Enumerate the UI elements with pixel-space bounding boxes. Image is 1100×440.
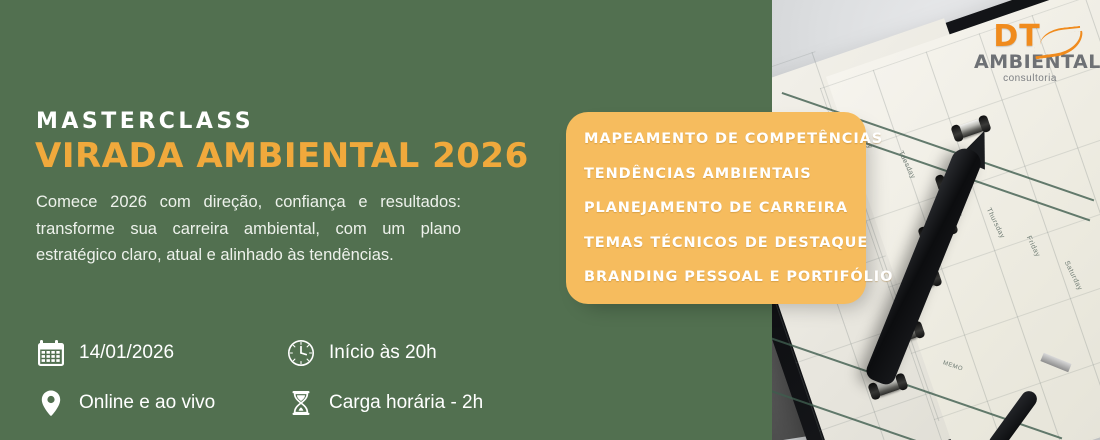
topics-card: MAPEAMENTO DE COMPETÊNCIAS TENDÊNCIAS AM… <box>566 112 866 304</box>
location-pin-icon <box>34 386 68 420</box>
info-label-time: Início às 20h <box>329 342 437 364</box>
info-item-date: 14/01/2026 <box>34 336 284 370</box>
info-row: 14/01/2026 <box>34 328 554 378</box>
clock-icon <box>284 336 318 370</box>
calendar-icon <box>34 336 68 370</box>
info-label-date: 14/01/2026 <box>79 342 174 364</box>
topic-item: TENDÊNCIAS AMBIENTAIS <box>584 167 866 182</box>
info-item-duration: Carga horária - 2h <box>284 386 544 420</box>
brand-logo: DT AMBIENTAL consultoria <box>974 22 1086 84</box>
info-item-location: Online e ao vivo <box>34 386 284 420</box>
topic-item: MAPEAMENTO DE COMPETÊNCIAS <box>584 132 866 147</box>
info-label-duration: Carga horária - 2h <box>329 392 483 414</box>
hourglass-icon <box>284 386 318 420</box>
topic-item: TEMAS TÉCNICOS DE DESTAQUE <box>584 236 866 251</box>
topic-item: PLANEJAMENTO DE CARREIRA <box>584 201 866 216</box>
description-text: Comece 2026 com direção, confiança e res… <box>36 189 461 269</box>
info-label-location: Online e ao vivo <box>79 392 215 414</box>
topic-item: BRANDING PESSOAL E PORTIFÓLIO <box>584 270 866 285</box>
logo-tagline: consultoria <box>974 74 1086 84</box>
logo-secondary-text: AMBIENTAL <box>974 53 1086 72</box>
page-title: VIRADA AMBIENTAL 2026 <box>35 136 529 176</box>
event-info: 14/01/2026 <box>34 328 554 428</box>
info-item-time: Início às 20h <box>284 336 544 370</box>
eyebrow-text: MASTERCLASS <box>36 109 254 134</box>
info-row: Online e ao vivo Carga horária - 2h <box>34 378 554 428</box>
promotional-banner: Monday Tuesday Wednesday Thursday Friday… <box>0 0 1100 440</box>
